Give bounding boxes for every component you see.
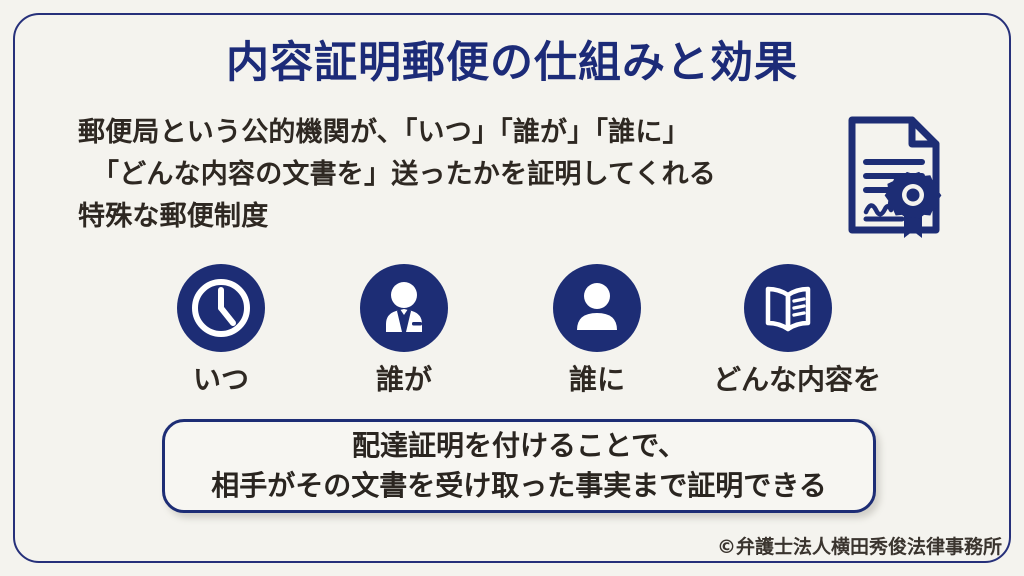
feature-label: いつ xyxy=(146,364,296,396)
businessman-icon xyxy=(360,264,448,352)
slide-canvas: 内容証明郵便の仕組みと効果 郵便局という公的機関が、「いつ」「誰が」「誰に」 「… xyxy=(0,0,1024,576)
callout-line-2: 相手がその文書を受け取った事実まで証明できる xyxy=(211,466,826,506)
lead-line-3: 特殊な郵便制度 xyxy=(78,196,838,238)
feature-item-who-sent: 誰が xyxy=(329,264,479,396)
callout-box: 配達証明を付けることで、 相手がその文書を受け取った事実まで証明できる xyxy=(162,419,876,513)
lead-line-1: 郵便局という公的機関が、「いつ」「誰が」「誰に」 xyxy=(78,112,838,154)
feature-icon-row: いつ 誰が 誰に xyxy=(150,264,890,394)
feature-item-when: いつ xyxy=(146,264,296,396)
feature-label: どんな内容を xyxy=(713,364,863,396)
certificate-document-icon xyxy=(842,112,950,240)
feature-item-what-content: どんな内容を xyxy=(713,264,863,396)
page-title: 内容証明郵便の仕組みと効果 xyxy=(0,36,1024,90)
feature-label: 誰に xyxy=(522,364,672,396)
open-book-icon xyxy=(744,264,832,352)
footer-copyright: ©弁護士法人横田秀俊法律事務所 xyxy=(717,535,1002,559)
lead-paragraph: 郵便局という公的機関が、「いつ」「誰が」「誰に」 「どんな内容の文書を」送ったか… xyxy=(78,112,838,238)
lead-line-2: 「どんな内容の文書を」送ったかを証明してくれる xyxy=(78,154,838,196)
callout-line-1: 配達証明を付けることで、 xyxy=(352,426,686,466)
person-icon xyxy=(553,264,641,352)
feature-label: 誰が xyxy=(329,364,479,396)
clock-icon xyxy=(177,264,265,352)
feature-item-who-received: 誰に xyxy=(522,264,672,396)
